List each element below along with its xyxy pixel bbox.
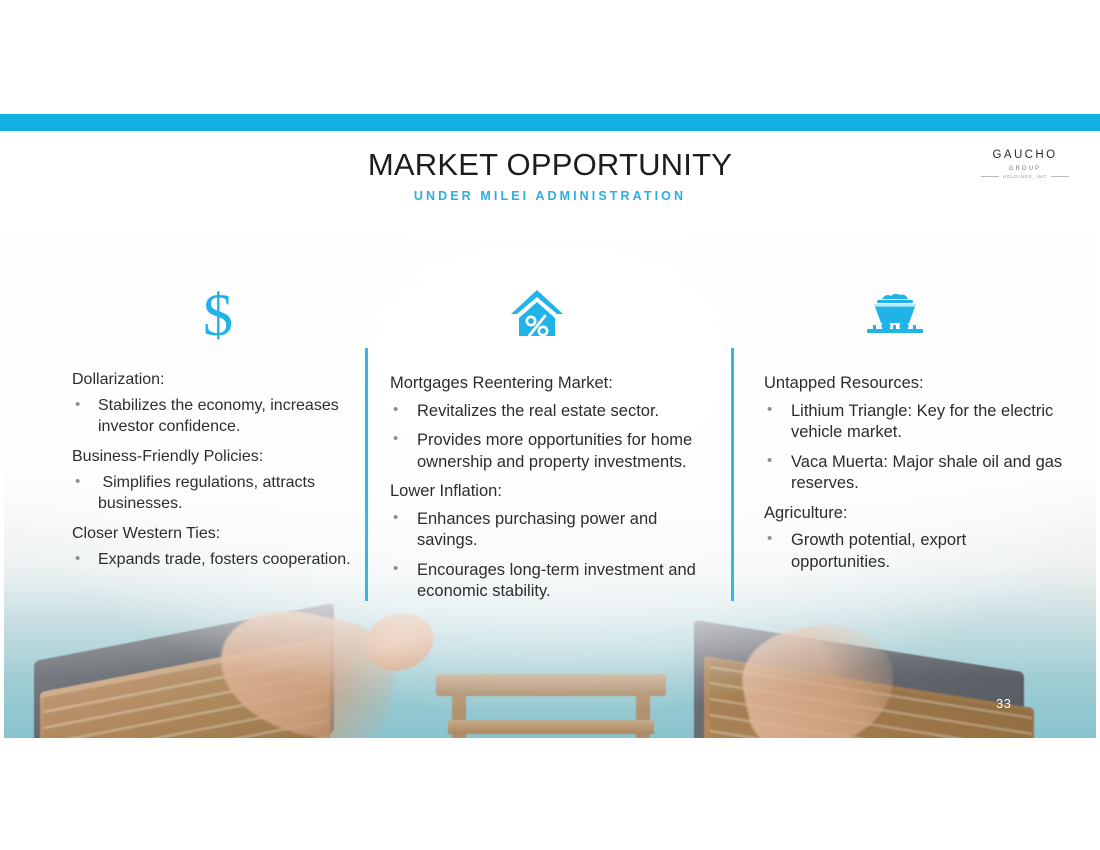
top-accent-bar [0,114,1100,131]
section-heading: Agriculture: [764,504,1064,524]
slide-header: MARKET OPPORTUNITY UNDER MILEI ADMINISTR… [0,131,1100,235]
house-percent-icon [477,282,597,346]
svg-text:$: $ [203,283,233,345]
list-item: Stabilizes the economy, increases invest… [72,396,357,438]
logo-rule: HOLDINGS, INC [975,175,1075,179]
section-heading: Untapped Resources: [764,374,1064,394]
logo-subname: GROUP [975,166,1075,172]
section-heading: Business-Friendly Policies: [72,447,357,466]
list-item: Vaca Muerta: Major shale oil and gas res… [764,452,1064,495]
list-item: Growth potential, export opportunities. [764,530,1064,573]
bullet-list: Revitalizes the real estate sector. Prov… [390,401,720,473]
list-item: Expands trade, fosters cooperation. [72,550,357,571]
bullet-list: Enhances purchasing power and savings. E… [390,509,720,603]
bullet-list: Simplifies regulations, attracts busines… [72,473,357,515]
content-column-resources: Untapped Resources: Lithium Triangle: Ke… [764,374,1064,582]
list-item: Revitalizes the real estate sector. [390,401,720,422]
bullet-list: Stabilizes the economy, increases invest… [72,396,357,438]
section-heading: Closer Western Ties: [72,524,357,543]
company-logo: GAUCHO GROUP HOLDINGS, INC [975,150,1075,190]
section-heading: Lower Inflation: [390,482,720,502]
slide: MARKET OPPORTUNITY UNDER MILEI ADMINISTR… [0,0,1100,850]
section-heading: Mortgages Reentering Market: [390,374,720,394]
bullet-list: Expands trade, fosters cooperation. [72,550,357,571]
page-subtitle: UNDER MILEI ADMINISTRATION [0,189,1100,203]
list-item: Lithium Triangle: Key for the electric v… [764,401,1064,444]
content-column-dollarization: Dollarization: Stabilizes the economy, i… [72,370,357,580]
bullet-list: Growth potential, export opportunities. [764,530,1064,573]
list-item: Enhances purchasing power and savings. [390,509,720,552]
logo-name: GAUCHO [975,150,1075,162]
page-number: 33 [996,696,1011,711]
dollar-sign-icon: $ [158,282,278,346]
bullet-list: Lithium Triangle: Key for the electric v… [764,401,1064,495]
list-item: Provides more opportunities for home own… [390,430,720,473]
logo-rule-right [1051,176,1069,177]
list-item: Simplifies regulations, attracts busines… [72,473,357,515]
column-divider-2 [731,348,734,601]
logo-rule-left [981,176,999,177]
content-column-mortgages: Mortgages Reentering Market: Revitalizes… [390,374,720,612]
list-item: Encourages long-term investment and econ… [390,560,720,603]
logo-tagline: HOLDINGS, INC [1003,175,1047,179]
mining-cart-icon [835,282,955,346]
column-divider-1 [365,348,368,601]
section-heading: Dollarization: [72,370,357,389]
page-title: MARKET OPPORTUNITY [0,147,1100,183]
